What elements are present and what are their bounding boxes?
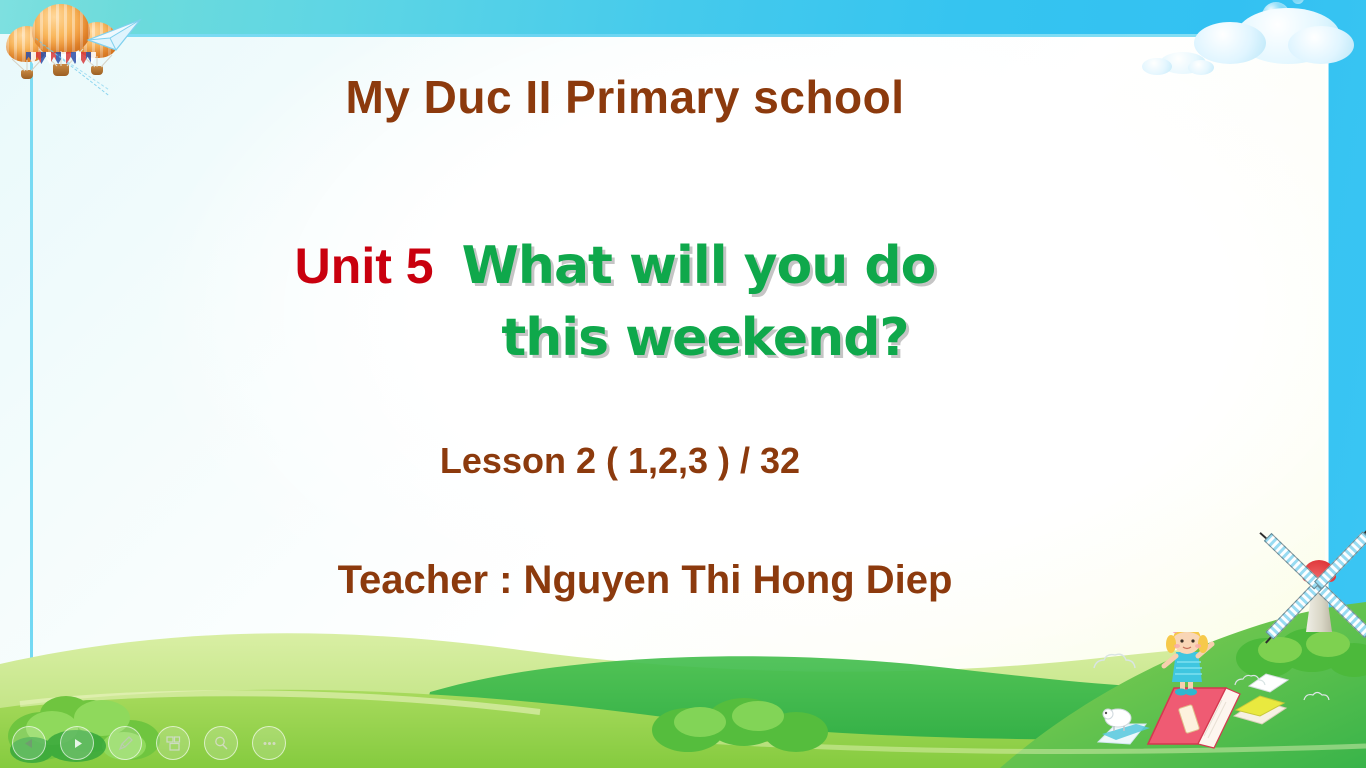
grid-icon bbox=[165, 735, 182, 752]
teacher-name: Teacher : Nguyen Thi Hong Diep bbox=[0, 558, 1290, 603]
unit-title-line-2: this weekend? bbox=[501, 308, 908, 368]
zoom-tool-button[interactable] bbox=[204, 726, 238, 760]
unit-title-line-1: What will you do bbox=[462, 236, 936, 296]
triangle-right-icon bbox=[71, 737, 84, 750]
next-slide-button[interactable] bbox=[60, 726, 94, 760]
slide-text-layer: My Duc II Primary school Unit 5What will… bbox=[0, 0, 1366, 768]
pen-tool-button[interactable] bbox=[108, 726, 142, 760]
unit-number-label: Unit 5 bbox=[295, 238, 434, 294]
unit-heading-line-1: Unit 5What will you do bbox=[0, 236, 1230, 296]
triangle-left-icon bbox=[23, 737, 36, 750]
more-options-button[interactable] bbox=[252, 726, 286, 760]
page-title: My Duc II Primary school bbox=[0, 70, 1250, 124]
presenter-controls-bar[interactable] bbox=[12, 726, 286, 760]
magnifier-icon bbox=[213, 735, 229, 751]
presentation-slide: My Duc II Primary school Unit 5What will… bbox=[0, 0, 1366, 768]
all-slides-button[interactable] bbox=[156, 726, 190, 760]
previous-slide-button[interactable] bbox=[12, 726, 46, 760]
pen-icon bbox=[117, 735, 134, 752]
unit-heading-line-2: this weekend? bbox=[0, 308, 1366, 368]
ellipsis-icon bbox=[261, 735, 278, 752]
lesson-reference: Lesson 2 ( 1,2,3 ) / 32 bbox=[0, 440, 1240, 482]
